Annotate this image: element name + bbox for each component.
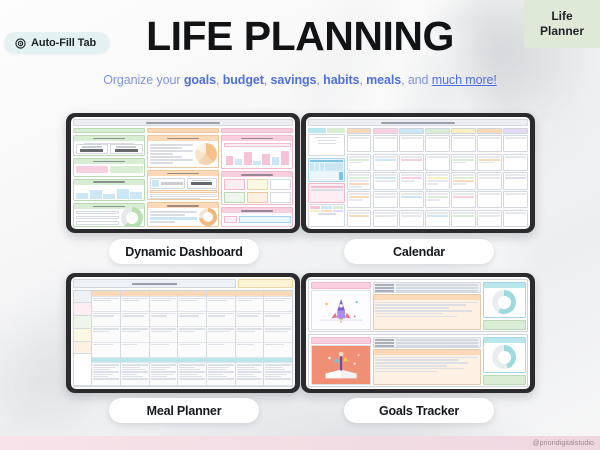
meal-day-column <box>120 291 149 387</box>
subtitle-keyword-budget: budget <box>223 73 264 87</box>
goals-tracker-sheet <box>306 277 530 389</box>
progress-donut-chart <box>492 290 516 314</box>
footer-bar: @prioridigitalstudio <box>0 436 600 450</box>
rocket-illustration-icon <box>312 291 370 329</box>
device-frame <box>301 273 535 393</box>
preview-meal-planner[interactable] <box>66 273 300 393</box>
subtitle-sep: , <box>216 73 223 87</box>
column-heading-habits <box>221 128 293 133</box>
calendar-week-row <box>347 135 528 152</box>
goal-section-personal-growth <box>308 334 528 387</box>
goal-progress-block <box>483 282 526 330</box>
subtitle-keyword-savings: savings <box>271 73 317 87</box>
goal-milestone-note <box>483 375 526 385</box>
panel-notes <box>221 207 293 227</box>
calendar-week-row <box>347 172 528 189</box>
expenses-pie-chart <box>195 143 217 165</box>
goal-detail-block <box>373 282 481 330</box>
subtitle-conjunction: and <box>408 73 432 87</box>
meal-planner-title-bar <box>73 279 236 288</box>
meal-planner-sheet <box>71 277 295 389</box>
calendar-sheet <box>306 117 530 229</box>
dashboard-title-bar <box>73 119 293 126</box>
calendar-week-row <box>347 210 528 227</box>
column-heading-budget <box>147 128 219 133</box>
label-meal-planner[interactable]: Meal Planner <box>109 398 259 423</box>
preview-goals-tracker[interactable] <box>301 273 535 393</box>
meal-planner-week-selector[interactable] <box>238 279 294 288</box>
income-kpis <box>76 144 143 153</box>
label-goals-tracker[interactable]: Goals Tracker <box>344 398 494 423</box>
panel-habits <box>221 135 293 169</box>
dashboard-column-budget <box>147 128 219 227</box>
screen-meal-planner <box>71 277 295 389</box>
label-calendar[interactable]: Calendar <box>344 239 494 264</box>
meal-day-column <box>206 291 235 387</box>
calendar-grid <box>347 128 528 228</box>
panel-bills <box>147 202 219 227</box>
goal-detail-block <box>373 337 481 385</box>
goal-steps-table <box>373 294 481 330</box>
device-frame <box>66 113 300 233</box>
dashboard-column-habits <box>221 128 293 227</box>
goal-progress-block <box>483 337 526 385</box>
goal-illustration-block <box>311 337 371 385</box>
goal-section-title-career <box>311 282 371 289</box>
goal-meta-fields <box>373 282 481 293</box>
book-illustration-icon <box>312 346 370 384</box>
panel-transactions <box>147 170 219 200</box>
calendar-sidebar <box>308 128 345 228</box>
device-frame <box>66 273 300 393</box>
panel-income-vs-expenses <box>73 158 145 176</box>
screen-goals-tracker <box>306 277 530 389</box>
goal-steps-table <box>373 349 481 385</box>
goal-section-career <box>308 279 528 332</box>
meal-day-column <box>149 291 178 387</box>
dashboard-column-income <box>73 128 145 227</box>
goal-progress-card <box>483 337 526 374</box>
panel-income <box>73 135 145 156</box>
habits-bar-chart <box>224 148 291 167</box>
meal-day-column <box>235 291 264 387</box>
meal-day-column <box>91 291 120 387</box>
screen-calendar <box>306 117 530 229</box>
goal-milestone-note <box>483 320 526 330</box>
career-illustration <box>311 290 371 330</box>
subtitle-sep: , <box>401 73 408 87</box>
goal-progress-card <box>483 282 526 319</box>
footer-handle: @prioridigitalstudio <box>532 440 594 447</box>
panel-expenses-by-category <box>147 135 219 168</box>
subtitle-link[interactable]: much more! <box>432 73 497 87</box>
meal-day-columns <box>91 291 292 387</box>
bills-donut-chart <box>199 208 217 226</box>
goal-meta-fields <box>373 337 481 348</box>
debt-donut-chart <box>121 207 143 227</box>
preview-dynamic-dashboard[interactable] <box>66 113 300 233</box>
calendar-week-row <box>347 191 528 208</box>
subtitle-keyword-habits: habits <box>323 73 359 87</box>
column-heading-income <box>73 128 145 133</box>
preview-calendar[interactable] <box>301 113 535 233</box>
subtitle-lead: Organize your <box>103 73 184 87</box>
goal-illustration-block <box>311 282 371 330</box>
subtitle-keyword-goals: goals <box>184 73 216 87</box>
calendar-weekday-header <box>347 128 528 134</box>
meal-day-column <box>177 291 206 387</box>
label-dynamic-dashboard[interactable]: Dynamic Dashboard <box>109 239 259 264</box>
meal-row-labels <box>74 291 91 387</box>
goal-section-title-personal-growth <box>311 337 371 344</box>
meal-day-column <box>263 291 292 387</box>
meal-planner-header <box>73 279 293 288</box>
screen-dynamic-dashboard <box>71 117 295 229</box>
dashboard-sheet <box>71 117 295 229</box>
calendar-week-row <box>347 154 528 171</box>
page-subtitle: Organize your goals, budget, savings, ha… <box>0 73 600 87</box>
device-frame <box>301 113 535 233</box>
calendar-title-bar <box>308 119 528 126</box>
panel-savings-goals <box>73 179 145 202</box>
meal-planner-table <box>73 290 293 388</box>
panel-debts <box>73 203 145 227</box>
subtitle-sep: , <box>264 73 271 87</box>
savings-bar-chart <box>74 185 144 201</box>
dashboard-columns <box>73 128 293 227</box>
panel-monthly-progress <box>221 171 293 205</box>
personal-growth-illustration <box>311 345 371 385</box>
poster-canvas: Auto-Fill Tab Life Planner LIFE PLANNING… <box>0 0 600 450</box>
subtitle-keyword-meals: meals <box>366 73 401 87</box>
progress-donut-chart <box>492 345 516 369</box>
page-title: LIFE PLANNING <box>0 16 600 57</box>
